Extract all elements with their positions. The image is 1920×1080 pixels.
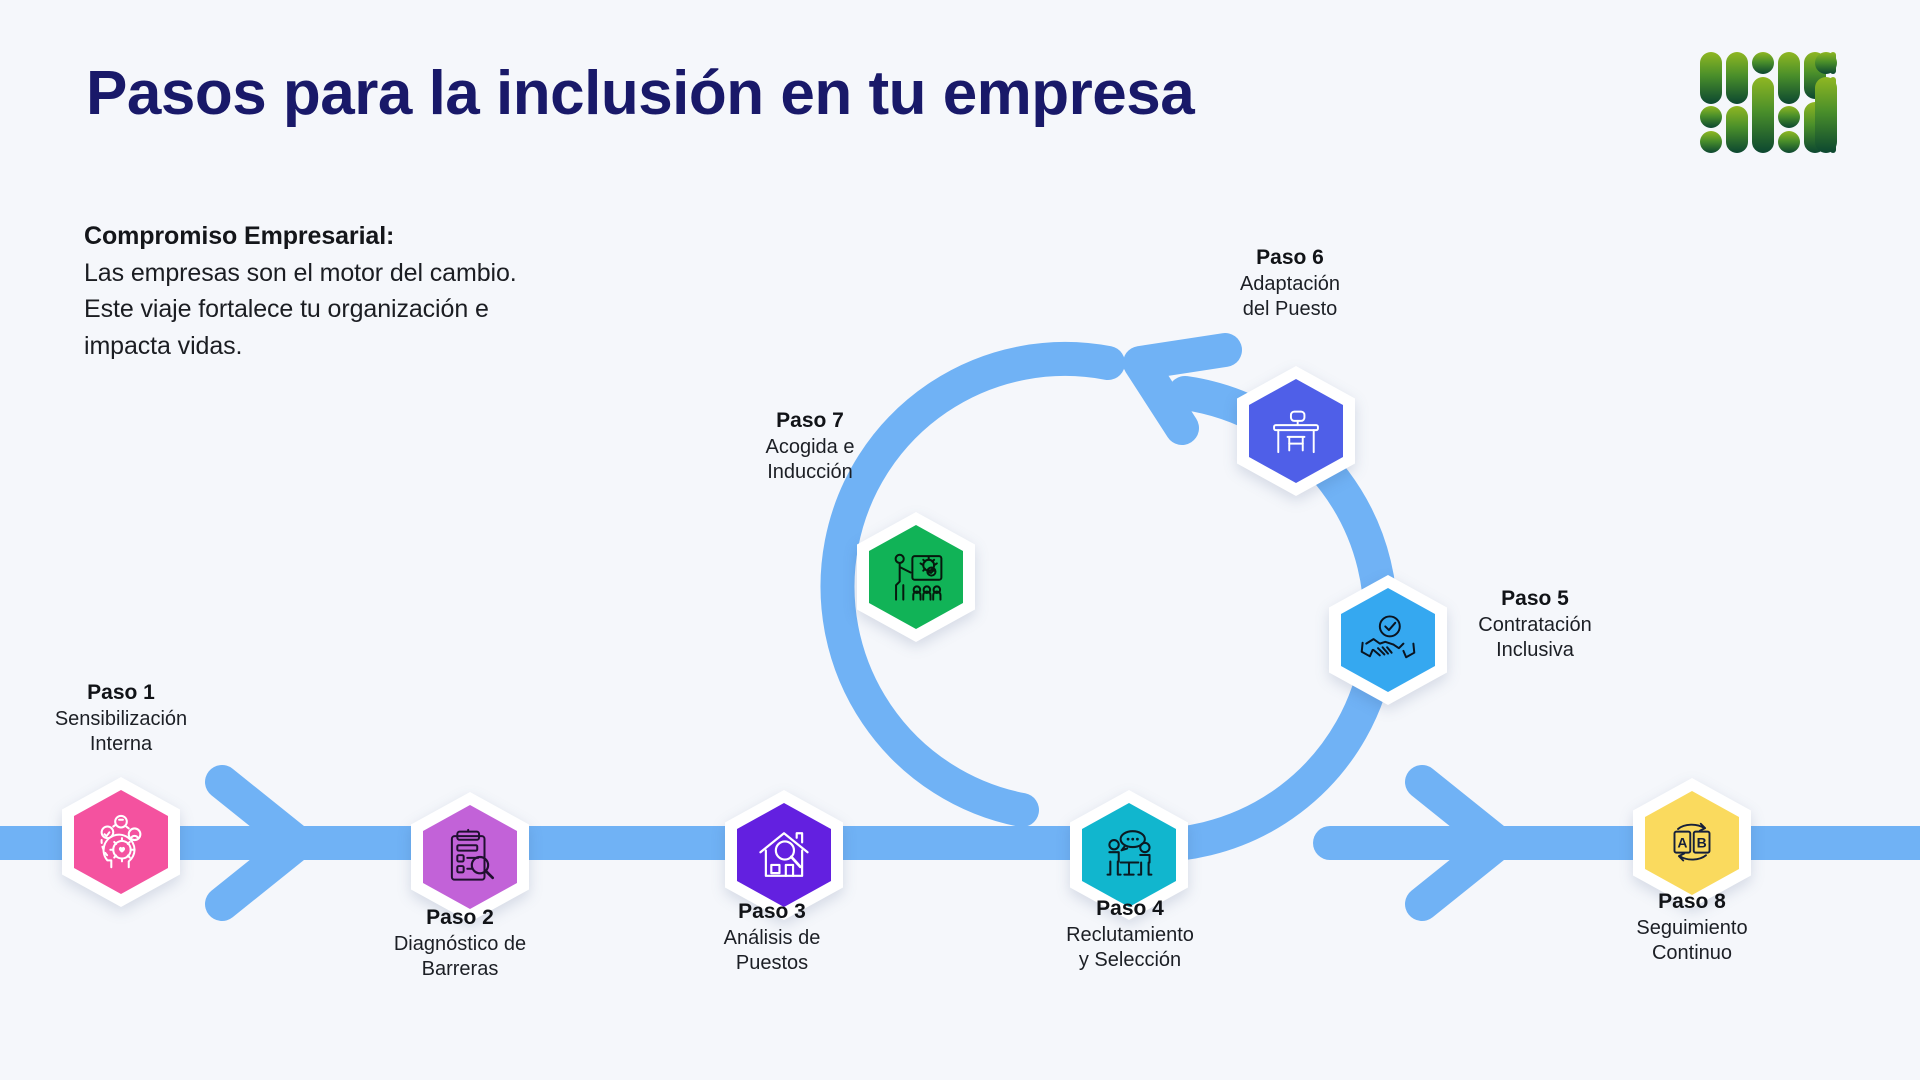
step-6-node[interactable]: [1237, 366, 1355, 496]
step-1-label: Paso 1 Sensibilización Interna: [0, 680, 251, 758]
step-5-label: Paso 5 Contratación Inclusiva: [1405, 586, 1665, 664]
desk-chair-icon: [1269, 405, 1323, 457]
step-7-desc: Acogida e Inducción: [680, 435, 940, 486]
step-7-label: Paso 7 Acogida e Inducción: [680, 408, 940, 486]
step-6-desc: Adaptación del Puesto: [1160, 272, 1420, 323]
interview-table-icon: [1099, 827, 1159, 883]
infographic-canvas: Pasos para la inclusión en tu empresa: [0, 0, 1920, 1080]
step-2-node[interactable]: [411, 792, 529, 922]
head-gear-heart-emotions-icon: [90, 811, 152, 873]
step-7-hex: [857, 512, 975, 642]
step-3-desc: Análisis de Puestos: [642, 926, 902, 977]
step-2-title: Paso 2: [330, 905, 590, 932]
step-3-title: Paso 3: [642, 899, 902, 926]
step-7-title: Paso 7: [680, 408, 940, 435]
step-2-label: Paso 2 Diagnóstico de Barreras: [330, 905, 590, 983]
step-4-desc: Reclutamiento y Selección: [1000, 923, 1260, 974]
house-magnifier-icon: [755, 828, 813, 882]
step-6-title: Paso 6: [1160, 245, 1420, 272]
step-1-title: Paso 1: [0, 680, 251, 707]
step-5-title: Paso 5: [1405, 586, 1665, 613]
step-6-hex: [1237, 366, 1355, 496]
svg-text:A: A: [1677, 834, 1687, 850]
step-1-desc: Sensibilización Interna: [0, 707, 251, 758]
step-2-desc: Diagnóstico de Barreras: [330, 932, 590, 983]
step-4-title: Paso 4: [1000, 896, 1260, 923]
step-7-node[interactable]: [857, 512, 975, 642]
step-8-desc: Seguimiento Continuo: [1562, 916, 1822, 967]
step-1-node[interactable]: [62, 777, 180, 907]
step-1-hex: [62, 777, 180, 907]
step-8-label: Paso 8 Seguimiento Continuo: [1562, 889, 1822, 967]
clipboard-magnifier-icon: [441, 828, 499, 886]
step-8-title: Paso 8: [1562, 889, 1822, 916]
step-2-hex: [411, 792, 529, 922]
step-3-label: Paso 3 Análisis de Puestos: [642, 899, 902, 977]
ab-cycle-icon: A B: [1664, 817, 1720, 869]
step-6-label: Paso 6 Adaptación del Puesto: [1160, 245, 1420, 323]
training-presentation-icon: [887, 550, 945, 604]
svg-text:B: B: [1697, 834, 1707, 850]
step-5-desc: Contratación Inclusiva: [1405, 613, 1665, 664]
step-4-label: Paso 4 Reclutamiento y Selección: [1000, 896, 1260, 974]
